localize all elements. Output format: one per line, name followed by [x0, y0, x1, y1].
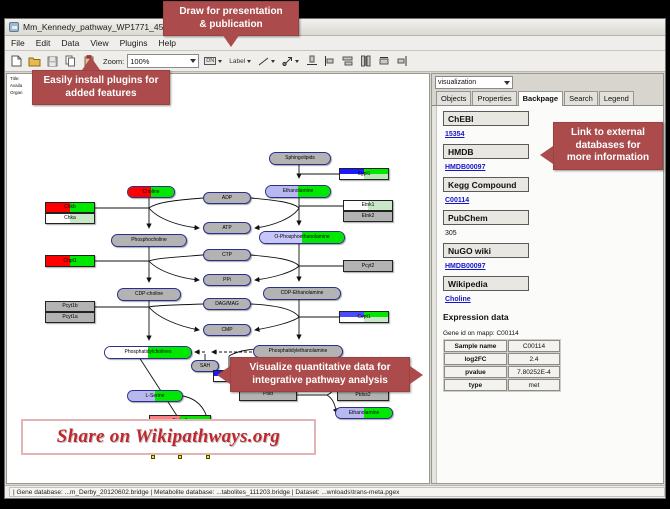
db-value-pubchem: 305 [445, 230, 457, 237]
expr-value-log2fc: 2.4 [508, 353, 560, 365]
node-sgpl1[interactable]: Sgpl1 [339, 168, 389, 180]
copy-icon[interactable] [63, 54, 78, 69]
expr-value-sample-name: C00114 [508, 340, 560, 352]
callout-plugins: Easily install plugins for added feature… [32, 70, 170, 105]
menu-item-edit[interactable]: Edit [35, 38, 52, 48]
status-bar: | Gene database: ...m_Derby_20120602.bri… [5, 485, 665, 498]
table-row: Sample name C00114 [444, 340, 560, 352]
menu-item-data[interactable]: Data [60, 38, 80, 48]
node-choline-top[interactable]: Choline [127, 186, 175, 198]
table-row: type met [444, 379, 560, 391]
db-link-hmdb[interactable]: HMDB00097 [445, 164, 485, 171]
new-file-icon[interactable] [9, 54, 24, 69]
anchor-arrow-icon [282, 56, 293, 66]
size-equal-icon[interactable] [376, 54, 391, 69]
zoom-combo[interactable]: 100% [127, 54, 199, 68]
node-etnk2[interactable]: Etnk2 [343, 211, 393, 222]
expr-key-log2fc: log2FC [444, 353, 507, 365]
node-pcyt1b[interactable]: Pcyt1b [45, 301, 95, 312]
callout-visualize-arrow-left [217, 366, 230, 384]
node-pcyt2[interactable]: Pcyt2 [343, 260, 393, 272]
chevron-down-icon [247, 60, 251, 63]
menu-item-view[interactable]: View [89, 38, 109, 48]
tab-objects[interactable]: Objects [436, 91, 471, 105]
align-bottom-icon[interactable] [304, 54, 319, 69]
selection-handle-se[interactable] [206, 455, 210, 459]
db-link-kegg-compound[interactable]: C00114 [445, 197, 469, 204]
selection-handle-s[interactable] [178, 455, 182, 459]
node-ethanolamine-bottom[interactable]: Ethanolamine [335, 407, 393, 419]
db-header-nugo-wiki: NuGO wiki [443, 243, 529, 258]
callout-link-line1: Link to external [561, 127, 655, 140]
tab-properties[interactable]: Properties [472, 91, 516, 105]
expr-value-type: met [508, 379, 560, 391]
datanode-icon: DN [204, 57, 216, 65]
callout-visualize-arrow-right [410, 366, 423, 384]
open-folder-icon[interactable] [27, 54, 42, 69]
db-header-pubchem: PubChem [443, 210, 529, 225]
line-icon [258, 57, 269, 66]
node-cept1[interactable]: Cept1 [339, 311, 389, 323]
db-link-wikipedia[interactable]: Choline [445, 296, 471, 303]
db-link-chebi[interactable]: 15354 [445, 131, 464, 138]
db-header-hmdb: HMDB [443, 144, 529, 159]
chevron-down-icon [218, 60, 222, 63]
panel-tabs: Objects Properties Backpage Search Legen… [432, 91, 663, 106]
distribute-vertical-icon[interactable] [340, 54, 355, 69]
db-header-kegg-compound: Kegg Compound [443, 177, 529, 192]
callout-draw-arrow [222, 34, 240, 47]
anchor-arrow-tool[interactable] [280, 54, 301, 68]
zoom-label: Zoom: [103, 57, 124, 66]
gene-id-line: Gene id on mapp: C00114 [443, 330, 657, 337]
node-etnk1[interactable]: Etnk1 [343, 200, 393, 211]
callout-draw-line1: Draw for presentation [171, 6, 291, 19]
node-cmp[interactable]: CMP [203, 324, 251, 336]
node-ethanolamine-top[interactable]: Ethanolamine [265, 185, 331, 198]
node-cdp-choline[interactable]: CDP-choline [117, 288, 181, 301]
tool-bar: Zoom: 100% DN Label [5, 51, 665, 72]
node-adp[interactable]: ADP [203, 192, 251, 204]
db-header-wikipedia: Wikipedia [443, 276, 529, 291]
expr-key-sample-name: Sample name [444, 340, 507, 352]
node-o-phosphoethanolamine[interactable]: O-Phosphoethanolamine [259, 231, 345, 244]
expression-table: Sample name C00114 log2FC 2.4 pvalue 7.8… [443, 339, 561, 392]
callout-link-line3: more information [561, 152, 655, 165]
node-ctp[interactable]: CTP [203, 249, 251, 261]
zoom-value: 100% [130, 57, 149, 66]
callout-link: Link to external databases for more info… [553, 122, 663, 170]
line-tool[interactable] [256, 54, 277, 68]
save-icon[interactable] [45, 54, 60, 69]
db-link-nugo-wiki[interactable]: HMDB00097 [445, 263, 485, 270]
callout-plugins-line1: Easily install plugins for [40, 75, 162, 88]
menu-item-plugins[interactable]: Plugins [119, 38, 149, 48]
expr-key-pvalue: pvalue [444, 366, 507, 378]
node-phosphatidylcholines[interactable]: Phosphatidylcholines [104, 346, 192, 359]
share-banner: Share on Wikipathways.org [21, 419, 316, 455]
callout-plugins-line2: added features [40, 88, 162, 101]
menu-bar: File Edit Data View Plugins Help [5, 36, 665, 51]
node-chkb[interactable]: Chkb [45, 202, 95, 213]
title-bar: Mm_Kennedy_pathway_WP1771_45176.gpml [5, 19, 665, 36]
expr-value-pvalue: 7.80252E-4 [508, 366, 560, 378]
expression-data-title: Expression data [443, 312, 657, 322]
node-phosphocholine[interactable]: Phosphocholine [111, 234, 187, 247]
distribute-horizontal-icon[interactable] [358, 54, 373, 69]
node-chpt1[interactable]: Chpt1 [45, 255, 95, 267]
application-icon [9, 22, 19, 32]
chevron-down-icon [271, 60, 275, 63]
callout-plugins-arrow [82, 57, 100, 70]
align-left-icon[interactable] [322, 54, 337, 69]
table-row: log2FC 2.4 [444, 353, 560, 365]
callout-draw-line2: & publication [171, 19, 291, 32]
node-atp[interactable]: ATP [203, 222, 251, 234]
visualization-value: visualization [438, 79, 476, 86]
visualization-combo[interactable]: visualization [435, 76, 513, 89]
expr-key-type: type [444, 379, 507, 391]
visualization-row: visualization [432, 74, 663, 91]
callout-link-arrow [540, 146, 553, 164]
align-right-icon[interactable] [394, 54, 409, 69]
table-row: pvalue 7.80252E-4 [444, 366, 560, 378]
callout-visualize: Visualize quantitative data for integrat… [230, 357, 410, 392]
node-cdp-ethanolamine[interactable]: CDP-Ethanolamine [263, 287, 341, 300]
node-pcyt1a[interactable]: Pcyt1a [45, 312, 95, 323]
node-ppi[interactable]: PPi [203, 274, 251, 286]
node-sphingolipids[interactable]: Sphingolipids [269, 152, 331, 165]
chevron-down-icon [295, 60, 299, 63]
menu-item-help[interactable]: Help [158, 38, 177, 48]
tab-legend[interactable]: Legend [599, 91, 634, 105]
tab-search[interactable]: Search [564, 91, 598, 105]
status-text: | Gene database: ...m_Derby_20120602.bri… [9, 487, 665, 497]
callout-visualize-line2: integrative pathway analysis [238, 375, 402, 388]
node-dag-mag[interactable]: DAG/MAG [203, 298, 251, 310]
callout-draw: Draw for presentation & publication [163, 1, 299, 36]
selection-handle-sw[interactable] [151, 455, 155, 459]
label-tool[interactable]: Label [227, 54, 253, 68]
datanode-tool[interactable]: DN [202, 54, 224, 68]
node-l-serine-left[interactable]: L-Serine [127, 390, 183, 402]
screenshot-root: Mm_Kennedy_pathway_WP1771_45176.gpml Fil… [0, 0, 670, 509]
node-chka[interactable]: Chka [45, 213, 95, 224]
menu-item-file[interactable]: File [10, 38, 26, 48]
chevron-down-icon [504, 81, 510, 85]
label-icon: Label [229, 58, 245, 65]
db-header-chebi: ChEBI [443, 111, 529, 126]
chevron-down-icon [190, 59, 196, 63]
tab-backpage[interactable]: Backpage [518, 91, 563, 106]
share-banner-text: Share on Wikipathways.org [57, 426, 280, 448]
callout-link-line2: databases for [561, 140, 655, 153]
callout-visualize-line1: Visualize quantitative data for [238, 362, 402, 375]
